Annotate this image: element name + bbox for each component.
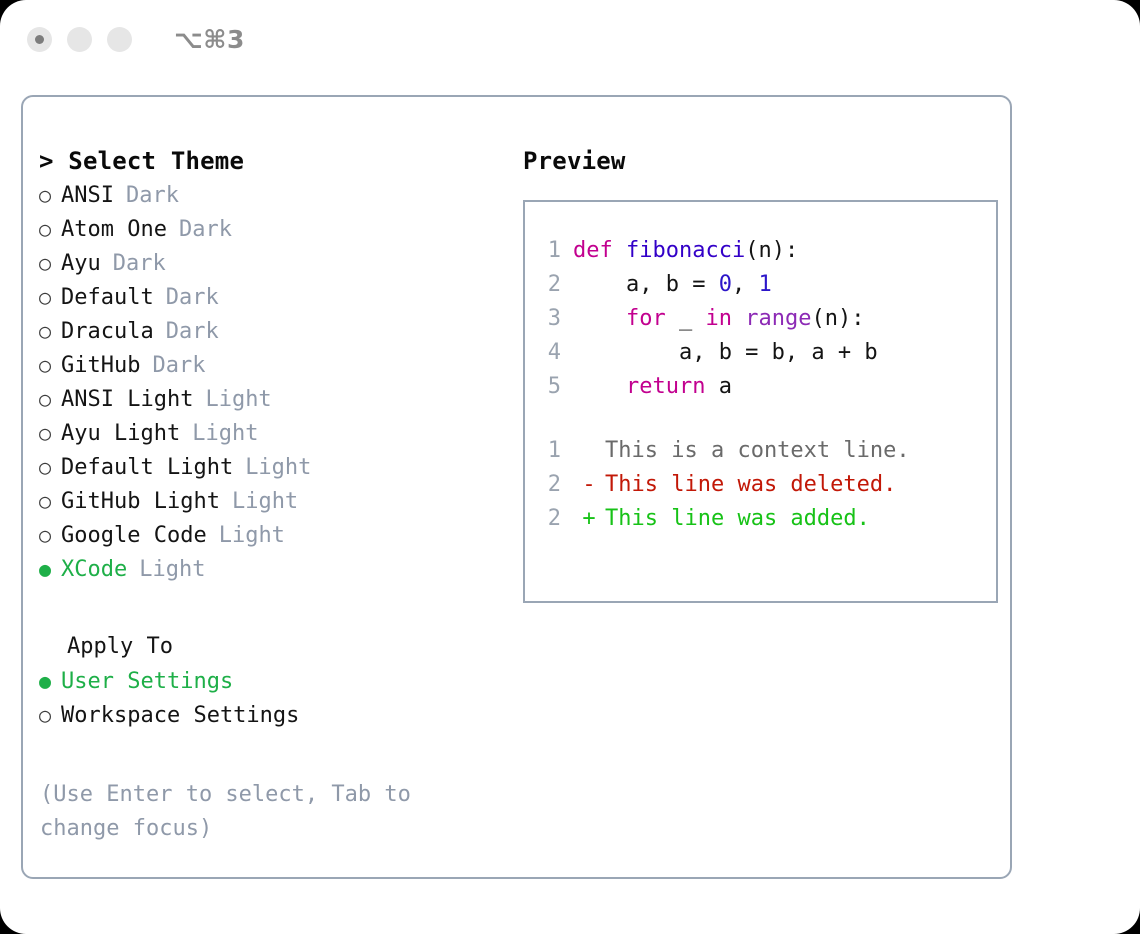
code-line-text: return a xyxy=(573,370,732,404)
code-line-number: 4 xyxy=(525,336,573,370)
theme-name-label: Atom One xyxy=(61,213,179,247)
radio-unselected-icon[interactable]: ○ xyxy=(39,518,61,552)
app-window: ⌥⌘3 > Select Theme ○ANSIDark○Atom OneDar… xyxy=(0,0,1140,934)
code-token: a, b = b, a + b xyxy=(573,340,878,365)
radio-selected-icon[interactable]: ● xyxy=(39,664,61,698)
theme-list-item[interactable]: ○Atom OneDark xyxy=(39,212,493,246)
radio-selected-icon[interactable]: ● xyxy=(39,552,61,586)
main-panel: > Select Theme ○ANSIDark○Atom OneDark○Ay… xyxy=(21,95,1012,879)
code-line: 3 for _ in range(n): xyxy=(525,302,996,336)
code-line: 2 a, b = 0, 1 xyxy=(525,268,996,302)
code-token: 0 xyxy=(719,272,732,297)
diff-line: 1 This is a context line. xyxy=(525,434,996,468)
code-line-number: 3 xyxy=(525,302,573,336)
theme-selection-column: > Select Theme ○ANSIDark○Atom OneDark○Ay… xyxy=(23,97,493,877)
theme-variant-label: Light xyxy=(139,553,205,587)
theme-name-label: GitHub xyxy=(61,349,152,383)
radio-unselected-icon[interactable]: ○ xyxy=(39,382,61,416)
theme-name-label: Ayu xyxy=(61,247,113,281)
diff-marker: + xyxy=(573,502,605,536)
window-dot-active[interactable] xyxy=(27,27,52,52)
code-token: for xyxy=(573,306,666,331)
diff-line-number: 2 xyxy=(525,502,573,536)
radio-unselected-icon[interactable]: ○ xyxy=(39,450,61,484)
apply-to-heading: Apply To xyxy=(39,630,493,664)
theme-variant-label: Dark xyxy=(126,179,179,213)
keyboard-hint-text: (Use Enter to select, Tab to change focu… xyxy=(39,778,450,846)
diff-line-text: This line was added. xyxy=(605,502,870,536)
code-line-number: 5 xyxy=(525,370,573,404)
code-token: range xyxy=(745,306,811,331)
theme-list-item[interactable]: ○Default LightLight xyxy=(39,450,493,484)
diff-line: 2-This line was deleted. xyxy=(525,468,996,502)
keyboard-shortcut-label: ⌥⌘3 xyxy=(174,25,245,54)
theme-name-label: Default Light xyxy=(61,451,245,485)
theme-name-label: XCode xyxy=(61,553,139,587)
diff-line: 2+This line was added. xyxy=(525,502,996,536)
apply-to-section: Apply To ●User Settings○Workspace Settin… xyxy=(39,630,493,732)
code-line: 1def fibonacci(n): xyxy=(525,234,996,268)
select-theme-heading: > Select Theme xyxy=(39,144,493,178)
code-token: 1 xyxy=(758,272,771,297)
apply-to-option-label: Workspace Settings xyxy=(61,699,299,733)
theme-list-item[interactable]: ○Ayu LightLight xyxy=(39,416,493,450)
theme-list-item[interactable]: ○GitHubDark xyxy=(39,348,493,382)
window-dot-active-indicator xyxy=(35,35,44,44)
code-token: def xyxy=(573,238,626,263)
radio-unselected-icon[interactable]: ○ xyxy=(39,484,61,518)
radio-unselected-icon[interactable]: ○ xyxy=(39,212,61,246)
code-line-number: 2 xyxy=(525,268,573,302)
theme-list-item[interactable]: ○GitHub LightLight xyxy=(39,484,493,518)
code-token: return xyxy=(573,374,705,399)
code-token: fibonacci xyxy=(626,238,745,263)
radio-unselected-icon[interactable]: ○ xyxy=(39,280,61,314)
theme-variant-label: Dark xyxy=(152,349,205,383)
theme-variant-label: Light xyxy=(245,451,311,485)
theme-variant-label: Light xyxy=(232,485,298,519)
radio-unselected-icon[interactable]: ○ xyxy=(39,246,61,280)
theme-name-label: Google Code xyxy=(61,519,219,553)
diff-line-number: 2 xyxy=(525,468,573,502)
theme-list-item[interactable]: ○DraculaDark xyxy=(39,314,493,348)
diff-marker xyxy=(573,434,605,468)
apply-to-option-label: User Settings xyxy=(61,665,233,699)
code-token: (n): xyxy=(745,238,798,263)
code-token xyxy=(732,306,745,331)
code-line: 5 return a xyxy=(525,370,996,404)
code-token: (n): xyxy=(811,306,864,331)
preview-column: Preview 1def fibonacci(n):2 a, b = 0, 13… xyxy=(493,97,1010,877)
preview-box: 1def fibonacci(n):2 a, b = 0, 13 for _ i… xyxy=(523,200,998,603)
theme-name-label: Default xyxy=(61,281,166,315)
theme-list-item[interactable]: ○AyuDark xyxy=(39,246,493,280)
diff-line-text: This line was deleted. xyxy=(605,468,896,502)
code-sample: 1def fibonacci(n):2 a, b = 0, 13 for _ i… xyxy=(525,234,996,404)
theme-variant-label: Dark xyxy=(113,247,166,281)
window-titlebar: ⌥⌘3 xyxy=(0,0,1140,78)
diff-line-text: This is a context line. xyxy=(605,434,910,468)
radio-unselected-icon[interactable]: ○ xyxy=(39,314,61,348)
theme-list-item[interactable]: ○ANSIDark xyxy=(39,178,493,212)
code-token: _ xyxy=(666,306,706,331)
code-line-text: a, b = b, a + b xyxy=(573,336,878,370)
theme-variant-label: Light xyxy=(205,383,271,417)
theme-list-item[interactable]: ○Google CodeLight xyxy=(39,518,493,552)
radio-unselected-icon[interactable]: ○ xyxy=(39,698,61,732)
window-dot-third[interactable] xyxy=(107,27,132,52)
apply-to-option[interactable]: ●User Settings xyxy=(39,664,493,698)
apply-to-option[interactable]: ○Workspace Settings xyxy=(39,698,493,732)
preview-heading: Preview xyxy=(523,144,1010,178)
window-dot-second[interactable] xyxy=(67,27,92,52)
theme-variant-label: Dark xyxy=(166,281,219,315)
diff-sample: 1 This is a context line.2-This line was… xyxy=(525,434,996,536)
theme-variant-label: Light xyxy=(219,519,285,553)
code-line: 4 a, b = b, a + b xyxy=(525,336,996,370)
radio-unselected-icon[interactable]: ○ xyxy=(39,348,61,382)
theme-name-label: ANSI Light xyxy=(61,383,205,417)
code-token: a xyxy=(705,374,732,399)
theme-list-item[interactable]: ●XCodeLight xyxy=(39,552,493,586)
diff-line-number: 1 xyxy=(525,434,573,468)
theme-name-label: Dracula xyxy=(61,315,166,349)
theme-variant-label: Light xyxy=(192,417,258,451)
theme-name-label: GitHub Light xyxy=(61,485,232,519)
radio-unselected-icon[interactable]: ○ xyxy=(39,178,61,212)
theme-name-label: Ayu Light xyxy=(61,417,192,451)
theme-variant-label: Dark xyxy=(179,213,232,247)
theme-list: ○ANSIDark○Atom OneDark○AyuDark○DefaultDa… xyxy=(39,178,493,586)
apply-to-options: ●User Settings○Workspace Settings xyxy=(39,664,493,732)
code-line-number: 1 xyxy=(525,234,573,268)
theme-list-item[interactable]: ○ANSI LightLight xyxy=(39,382,493,416)
code-token: , xyxy=(732,272,759,297)
diff-marker: - xyxy=(573,468,605,502)
theme-variant-label: Dark xyxy=(166,315,219,349)
theme-name-label: ANSI xyxy=(61,179,126,213)
code-line-text: a, b = 0, 1 xyxy=(573,268,772,302)
code-token: a, b = xyxy=(573,272,719,297)
code-line-text: for _ in range(n): xyxy=(573,302,864,336)
radio-unselected-icon[interactable]: ○ xyxy=(39,416,61,450)
code-token: in xyxy=(705,306,732,331)
theme-list-item[interactable]: ○DefaultDark xyxy=(39,280,493,314)
code-line-text: def fibonacci(n): xyxy=(573,234,798,268)
